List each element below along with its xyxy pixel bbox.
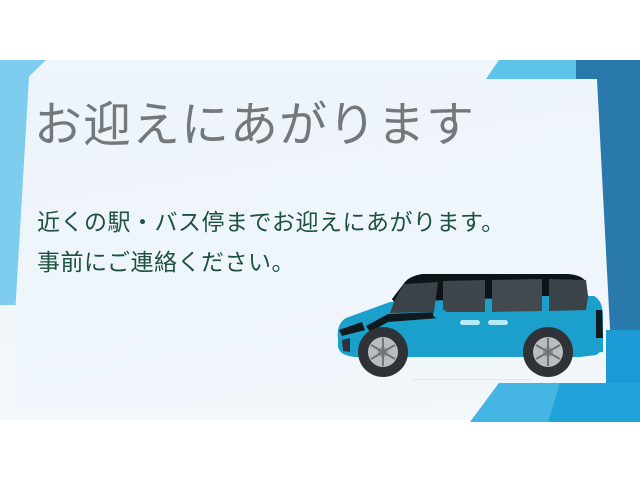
car-front-wheel [358,327,408,377]
body-text-line-1: 近くの駅・バス停までお迎えにあがります。 [37,203,505,241]
car-sliding-door-window [492,279,542,312]
body-text-line-2: 事前にご連絡ください。 [37,243,295,281]
car-front-window [443,280,485,312]
page-title: お迎えにあがります [34,96,475,156]
car-door-handle-rear [488,320,508,325]
car-door-handle-front [460,320,480,325]
car-rear-window [549,279,588,311]
car-windshield [390,282,438,313]
car-side-mirror [433,309,447,319]
car-front-vent [342,338,350,352]
car-rear-wheel [523,327,573,377]
car-tail-light [596,310,603,338]
decor-top-right-light-band [486,60,578,79]
promo-banner: お迎えにあがります 近くの駅・バス停までお迎えにあがります。 事前にご連絡くださ… [0,0,640,480]
minivan-illustration [330,252,615,392]
